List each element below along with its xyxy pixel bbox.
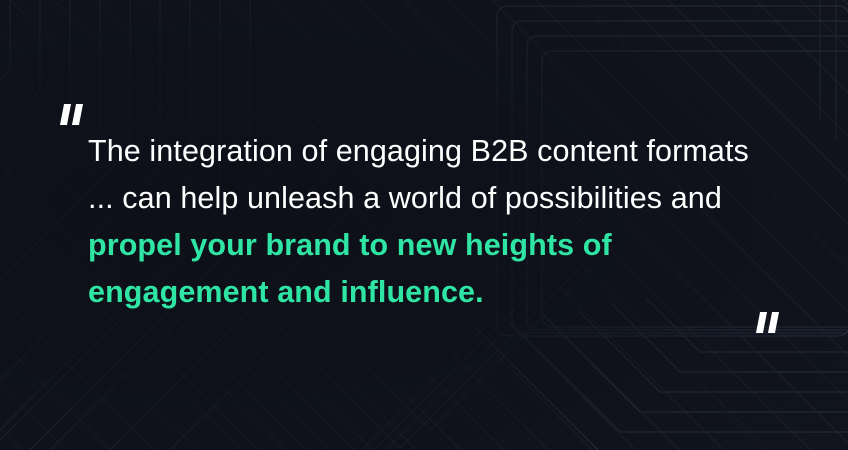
quote-close-icon — [758, 312, 788, 334]
quote-open-icon — [62, 104, 92, 126]
quote-text-plain: The integration of engaging B2B content … — [88, 134, 749, 215]
quote-text-highlight: propel your brand to new heights of enga… — [88, 228, 612, 309]
quote-card: The integration of engaging B2B content … — [0, 0, 848, 450]
quote-text: The integration of engaging B2B content … — [88, 128, 760, 316]
